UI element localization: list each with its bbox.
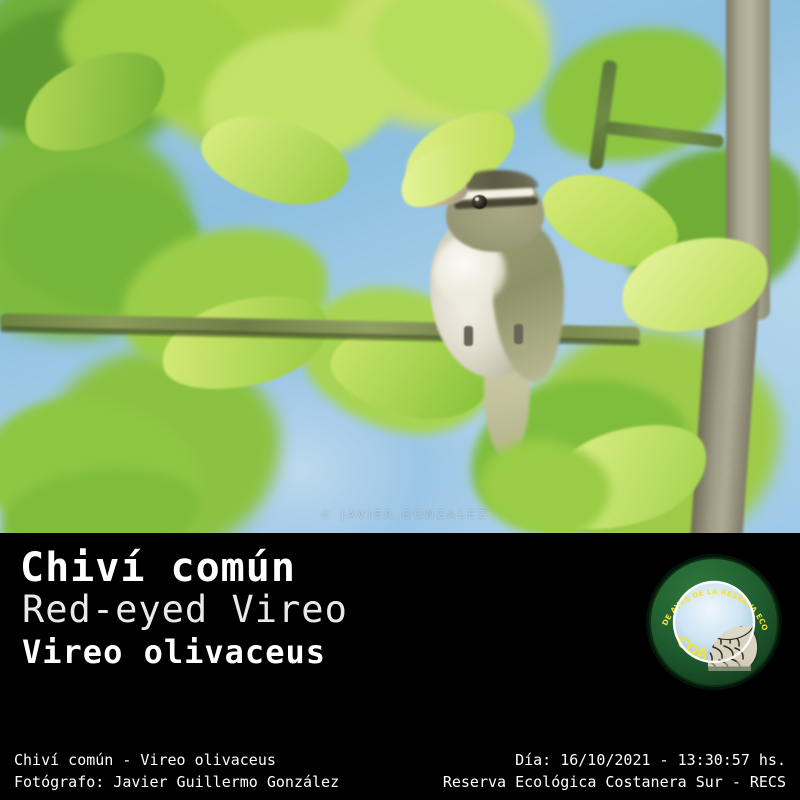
bird-species-card: © JAVIER GONZALEZ Chiví común Red-eyed V… [0, 0, 800, 800]
bird-eye-highlight [475, 197, 479, 201]
bird-photograph: © JAVIER GONZALEZ [0, 0, 800, 533]
scientific-name-title: Vireo olivaceus [22, 632, 326, 672]
bird-foot [514, 324, 523, 344]
common-name-title: Chiví común [20, 545, 296, 591]
coa-recs-logo[interactable]: CLUB DE OBSERVADORES DE AVES DE LA RESER… [645, 553, 783, 691]
footer-location-line: Reserva Ecológica Costanera Sur - RECS [443, 773, 786, 792]
footer-species-line: Chiví común - Vireo olivaceus [14, 751, 276, 770]
bird-foot [464, 326, 473, 346]
logo-svg: CLUB DE OBSERVADORES DE AVES DE LA RESER… [645, 553, 783, 691]
english-name-title: Red-eyed Vireo [22, 588, 348, 632]
footer-datetime-line: Día: 16/10/2021 - 13:30:57 hs. [515, 751, 786, 770]
footer-photographer-line: Fotógrafo: Javier Guillermo González [14, 773, 339, 792]
